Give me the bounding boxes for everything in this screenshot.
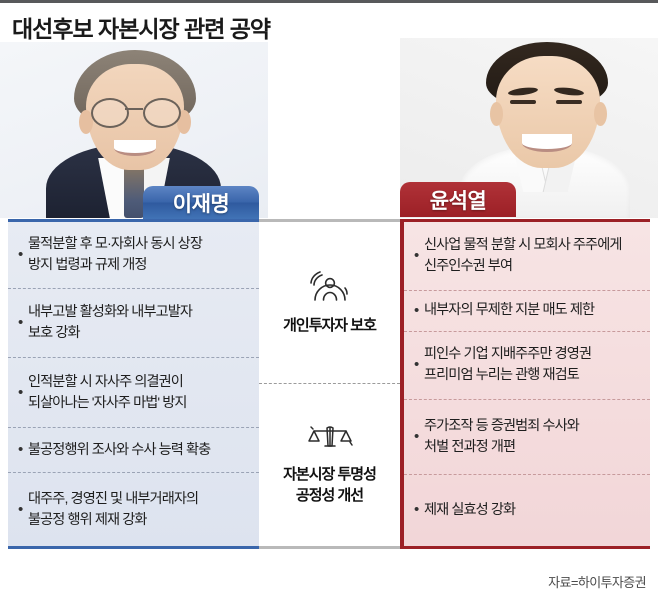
list-item: • 신사업 물적 분할 시 모회사 주주에게 신주인수권 부여 (404, 222, 650, 291)
list-item: • 불공정행위 조사와 수사 능력 확충 (8, 428, 259, 473)
pledge-text: 주가조작 등 증권범죄 수사와 처벌 전과정 개편 (424, 416, 579, 458)
list-item: • 내부자의 무제한 지분 매도 제한 (404, 291, 650, 332)
pledge-text: 물적분할 후 모·자회사 동시 상장 방지 법령과 규제 개정 (28, 234, 202, 276)
pledge-text: 내부고발 활성화와 내부고발자 보호 강화 (28, 302, 192, 344)
balance-scales-icon (305, 424, 355, 458)
category-column-center: 개인투자자 보호 자본시장 투명성 공정성 개선 (259, 219, 400, 549)
pledge-text: 내부자의 무제한 지분 매도 제한 (424, 300, 594, 321)
pledge-text: 대주주, 경영진 및 내부거래자의 불공정 행위 제재 강화 (28, 489, 198, 531)
list-item: • 물적분할 후 모·자회사 동시 상장 방지 법령과 규제 개정 (8, 222, 259, 289)
list-item: • 대주주, 경영진 및 내부거래자의 불공정 행위 제재 강화 (8, 473, 259, 546)
list-item: • 인적분할 시 자사주 의결권이 되살아나는 '자사주 마법' 방지 (8, 358, 259, 428)
top-rule (0, 0, 658, 3)
category-label: 자본시장 투명성 공정성 개선 (283, 465, 376, 506)
bullet-icon: • (414, 429, 418, 444)
pledge-list-left: • 물적분할 후 모·자회사 동시 상장 방지 법령과 규제 개정 • 내부고발… (8, 222, 259, 546)
page-title: 대선후보 자본시장 관련 공약 (12, 10, 270, 44)
list-item: • 피인수 기업 지배주주만 경영권 프리미엄 누리는 관행 재검토 (404, 332, 650, 400)
pledge-text: 제재 실효성 강화 (424, 500, 515, 521)
candidate-name-left: 이재명 (173, 188, 229, 218)
bullet-icon: • (414, 357, 418, 372)
nameplate-right: 윤석열 (400, 182, 516, 217)
bullet-icon: • (18, 247, 22, 262)
category-label: 개인투자자 보호 (283, 316, 376, 336)
list-item: • 내부고발 활성화와 내부고발자 보호 강화 (8, 289, 259, 359)
candidate-name-right: 윤석열 (430, 185, 486, 215)
list-item: • 주가조작 등 증권범죄 수사와 처벌 전과정 개편 (404, 400, 650, 475)
list-item: • 제재 실효성 강화 (404, 475, 650, 546)
pledge-text: 불공정행위 조사와 수사 능력 확충 (28, 440, 210, 461)
pledge-list-right: • 신사업 물적 분할 시 모회사 주주에게 신주인수권 부여 • 내부자의 무… (404, 222, 650, 546)
bullet-icon: • (18, 315, 22, 330)
bullet-icon: • (18, 442, 22, 457)
bullet-icon: • (414, 303, 418, 318)
source-note: 자료=하이투자증권 (548, 572, 646, 591)
category-market-transparency-fairness: 자본시장 투명성 공정성 개선 (259, 384, 400, 546)
nameplate-left: 이재명 (143, 186, 259, 219)
bullet-icon: • (18, 502, 22, 517)
person-shield-icon (307, 269, 353, 309)
pledge-text: 인적분할 시 자사주 의결권이 되살아나는 '자사주 마법' 방지 (28, 372, 187, 414)
pledge-column-left: • 물적분할 후 모·자회사 동시 상장 방지 법령과 규제 개정 • 내부고발… (8, 219, 259, 549)
bullet-icon: • (414, 502, 418, 517)
bullet-icon: • (414, 248, 418, 263)
bullet-icon: • (18, 385, 22, 400)
category-personal-investor-protection: 개인투자자 보호 (259, 222, 400, 384)
pledge-text: 피인수 기업 지배주주만 경영권 프리미엄 누리는 관행 재검토 (424, 344, 591, 386)
pledge-text: 신사업 물적 분할 시 모회사 주주에게 신주인수권 부여 (424, 235, 622, 277)
infographic-root: 대선후보 자본시장 관련 공약 (0, 0, 658, 604)
pledge-column-right: • 신사업 물적 분할 시 모회사 주주에게 신주인수권 부여 • 내부자의 무… (400, 219, 650, 549)
